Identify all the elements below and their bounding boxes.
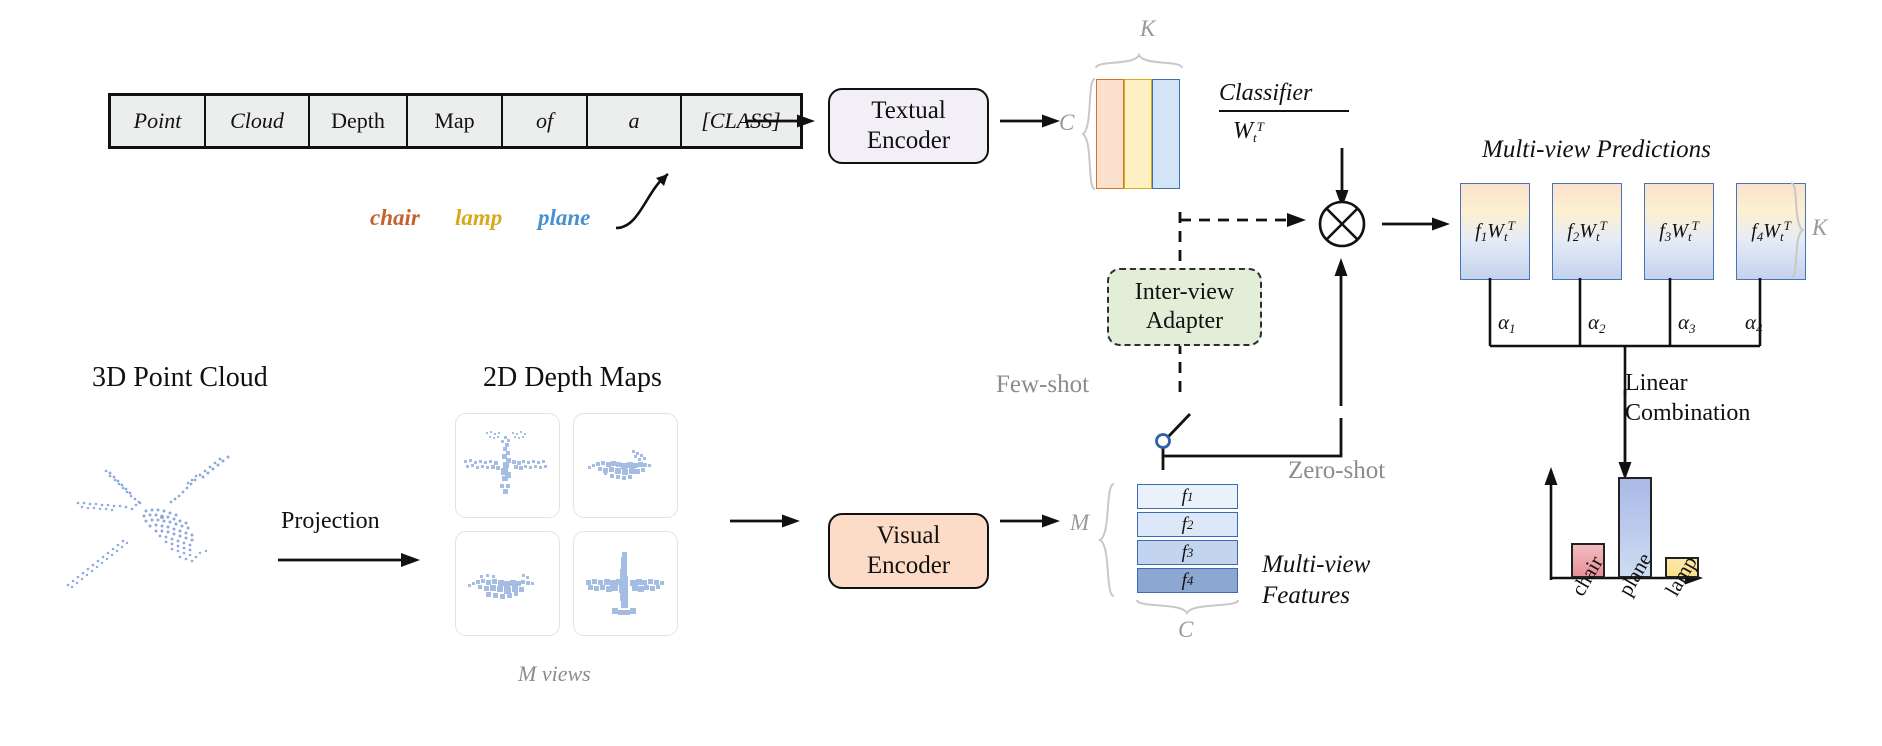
dashed-arrow-adapter-to-operator	[1180, 212, 1310, 228]
depth-maps-caption: M views	[518, 661, 591, 687]
class-curved-arrow	[600, 150, 710, 240]
classifier-weight-sup: T	[1257, 119, 1264, 134]
classifier-title: Classifier	[1219, 80, 1312, 107]
arrow-features-to-operator	[1333, 258, 1349, 408]
arrow-textual-encoder-to-classifier	[1000, 113, 1062, 129]
arrow-operator-to-predictions	[1382, 216, 1454, 232]
point-cloud-title: 3D Point Cloud	[92, 362, 268, 394]
multi-view-features-caption: Multi-view Features	[1262, 550, 1370, 611]
arrow-depthmaps-to-visual-encoder	[730, 513, 802, 529]
arrow-prompt-to-textual-encoder	[745, 113, 817, 129]
predictions-brace-label-K: K	[1812, 215, 1827, 241]
multi-view-feature-stack: f1 f2 f3 f4	[1137, 484, 1238, 596]
prompt-token: Cloud	[206, 96, 310, 146]
depth-maps-title: 2D Depth Maps	[483, 362, 662, 394]
prediction-f3: f3WtT	[1659, 218, 1699, 245]
alpha-4: α4	[1745, 310, 1763, 337]
arrow-visual-encoder-to-features	[1000, 513, 1062, 529]
features-brace-label-M: M	[1070, 510, 1089, 536]
alpha-1: α1	[1498, 310, 1516, 337]
depth-map-tile-3	[455, 531, 560, 636]
prediction-f2: f2WtT	[1567, 218, 1607, 245]
depth-map-4-visual	[574, 532, 677, 635]
class-word-plane: plane	[538, 205, 590, 231]
classifier-brace-label-K: K	[1140, 16, 1155, 42]
classifier-weight-symbol: WtT	[1233, 118, 1264, 146]
adapter-line1: Inter-view	[1135, 278, 1234, 307]
feature-row-2: f2	[1137, 512, 1238, 537]
point-cloud-visual	[60, 435, 280, 595]
class-word-chair: chair	[370, 205, 420, 231]
feature-row-3: f3	[1137, 540, 1238, 565]
features-caption-line2: Features	[1262, 581, 1370, 612]
prompt-token: of	[503, 96, 588, 146]
linear-combination-line1: Linear	[1625, 368, 1750, 398]
linear-combination-label: Linear Combination	[1625, 368, 1750, 428]
prompt-token: Depth	[310, 96, 408, 146]
classifier-top-brace	[1096, 52, 1182, 69]
visual-encoder-line2: Encoder	[867, 551, 950, 582]
inter-view-adapter-box[interactable]: Inter-view Adapter	[1107, 268, 1262, 346]
classifier-brace-label-C: C	[1059, 110, 1074, 136]
predictions-right-brace	[1790, 183, 1806, 278]
classifier-column-chair	[1096, 79, 1124, 189]
tensor-product-icon	[1310, 192, 1374, 256]
features-brace-label-C: C	[1178, 617, 1193, 643]
predictions-title: Multi-view Predictions	[1482, 136, 1711, 164]
features-caption-line1: Multi-view	[1262, 550, 1370, 581]
projection-label: Projection	[281, 508, 380, 535]
few-shot-label: Few-shot	[996, 371, 1089, 399]
alpha-2: α2	[1588, 310, 1606, 337]
alpha-3: α3	[1678, 310, 1696, 337]
prompt-token: a	[588, 96, 682, 146]
textual-encoder-line2: Encoder	[867, 126, 950, 157]
prediction-box-3: f3WtT	[1644, 183, 1714, 280]
prompt-token: Point	[111, 96, 206, 146]
visual-encoder-line1: Visual	[877, 521, 941, 552]
depth-map-tile-4	[573, 531, 678, 636]
prediction-f1: f1WtT	[1475, 218, 1515, 245]
visual-encoder-box[interactable]: Visual Encoder	[828, 513, 989, 589]
classifier-matrix	[1096, 79, 1180, 189]
prompt-token: Map	[408, 96, 503, 146]
prediction-box-2: f2WtT	[1552, 183, 1622, 280]
depth-map-1-visual	[456, 414, 559, 517]
features-left-brace	[1098, 484, 1116, 596]
depth-map-tile-1	[455, 413, 560, 518]
arrow-projection	[278, 552, 422, 568]
class-word-lamp: lamp	[455, 205, 502, 231]
classifier-fraction-rule	[1219, 110, 1349, 112]
prediction-box-1: f1WtT	[1460, 183, 1530, 280]
depth-map-tile-2	[573, 413, 678, 518]
zero-shot-label: Zero-shot	[1288, 457, 1385, 485]
classifier-column-lamp	[1124, 79, 1152, 189]
depth-map-3-visual	[456, 532, 559, 635]
adapter-line2: Adapter	[1146, 307, 1223, 336]
prediction-boxes: f1WtT f2WtT f3WtT f4WtT	[1460, 183, 1806, 280]
textual-encoder-line1: Textual	[871, 96, 946, 127]
feature-row-4: f4	[1137, 568, 1238, 593]
feature-row-1: f1	[1137, 484, 1238, 509]
prediction-f4: f4WtT	[1751, 218, 1791, 245]
prompt-token-table: Point Cloud Depth Map of a [CLASS]	[108, 93, 803, 149]
classifier-left-brace	[1081, 79, 1097, 189]
textual-encoder-box[interactable]: Textual Encoder	[828, 88, 989, 164]
classifier-weight-W: W	[1233, 118, 1253, 144]
classifier-column-plane	[1152, 79, 1180, 189]
depth-map-2-visual	[574, 414, 677, 517]
features-bottom-brace	[1137, 600, 1238, 616]
linear-combination-line2: Combination	[1625, 398, 1750, 428]
